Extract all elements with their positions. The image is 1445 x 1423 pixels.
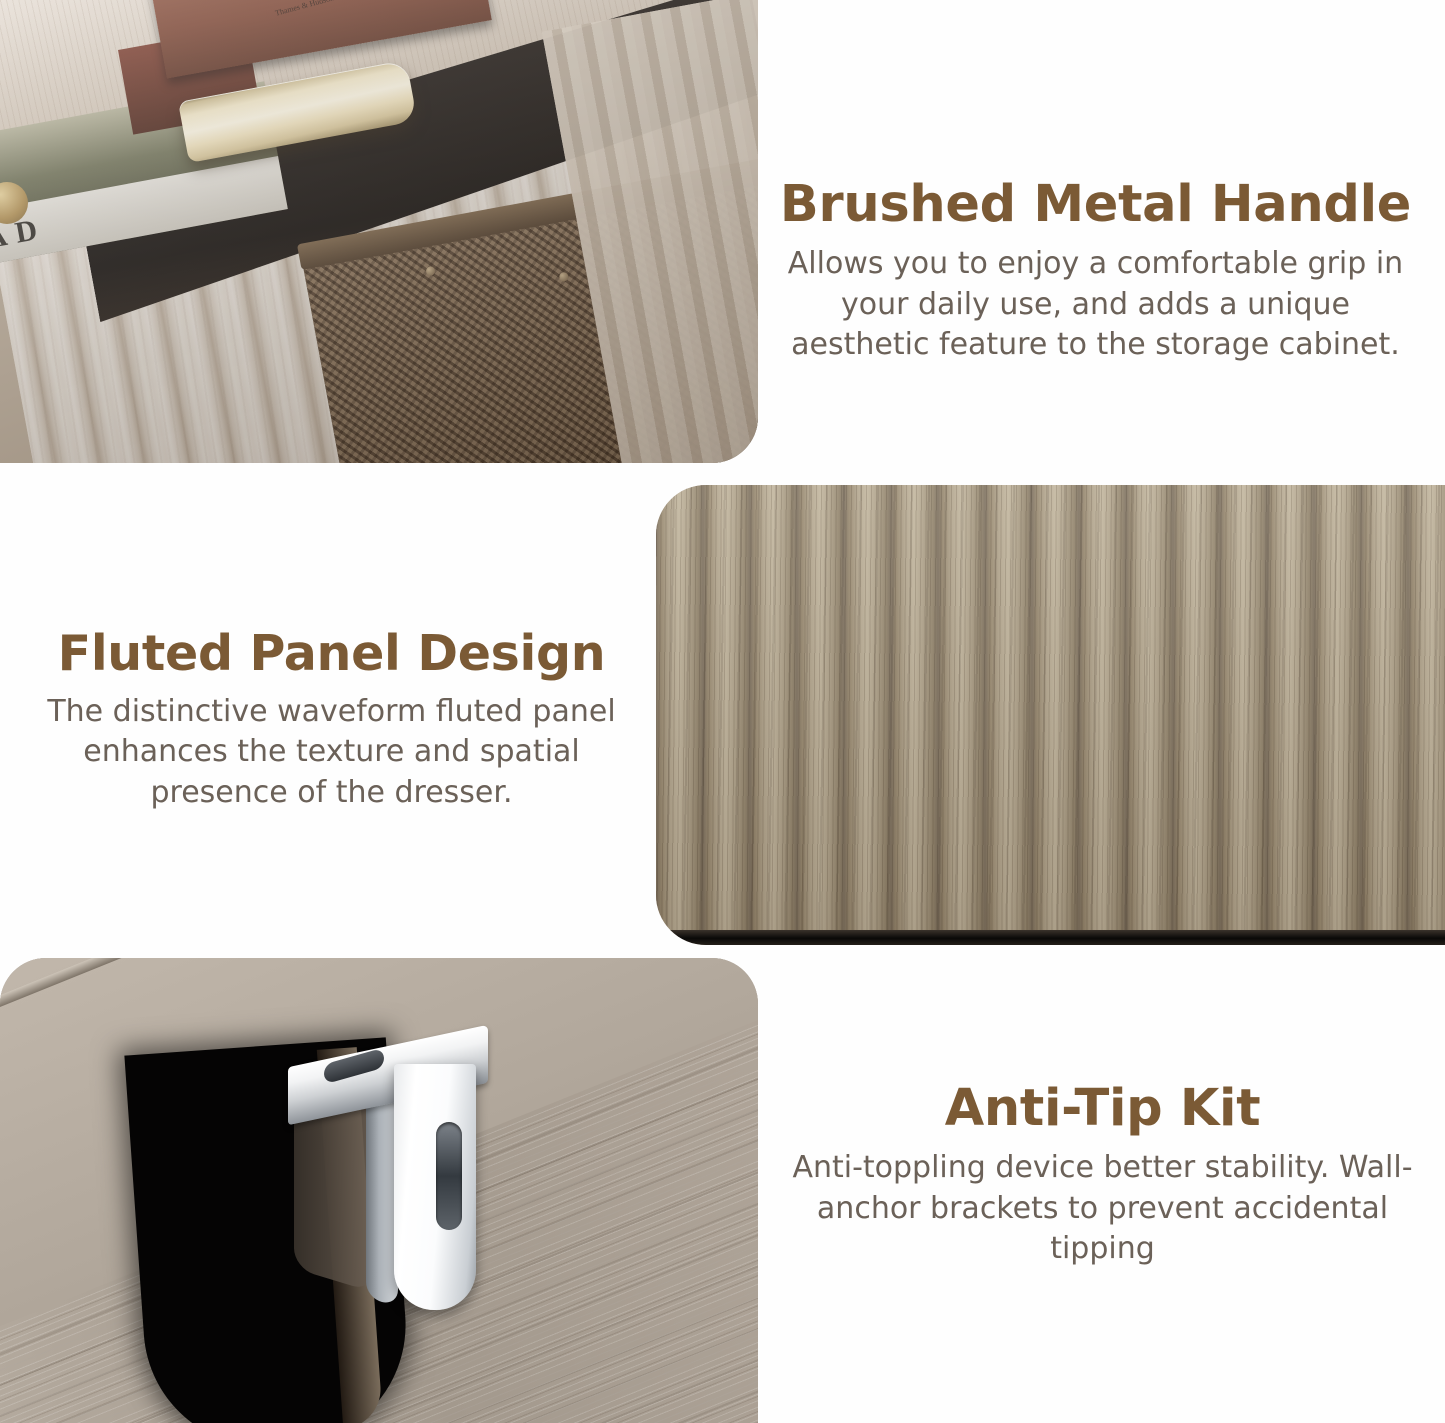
feature-title-brushed-metal-handle: Brushed Metal Handle bbox=[768, 178, 1423, 232]
feature-title-anti-tip-kit: Anti-Tip Kit bbox=[780, 1082, 1425, 1136]
feature-text-fluted-panel-design: Fluted Panel Design The distinctive wave… bbox=[18, 628, 645, 813]
feature-image-brushed-metal-handle: PAD The Art of Thames & Hudson bbox=[0, 0, 758, 463]
feature-description-fluted-panel-design: The distinctive waveform fluted panel en… bbox=[18, 692, 645, 814]
feature-text-brushed-metal-handle: Brushed Metal Handle Allows you to enjoy… bbox=[768, 178, 1423, 366]
feature-image-fluted-panel-design bbox=[656, 485, 1445, 945]
anti-tip-bracket bbox=[288, 1030, 508, 1330]
bracket-front-slot bbox=[436, 1122, 462, 1230]
feature-description-anti-tip-kit: Anti-toppling device better stability. W… bbox=[780, 1148, 1425, 1270]
photo-shading-overlay bbox=[656, 485, 1445, 931]
book-publisher-text: Thames & Hudson bbox=[274, 0, 335, 18]
feature-text-anti-tip-kit: Anti-Tip Kit Anti-toppling device better… bbox=[780, 1082, 1425, 1270]
bracket-front-flange bbox=[394, 1064, 476, 1310]
feature-description-brushed-metal-handle: Allows you to enjoy a comfortable grip i… bbox=[768, 244, 1423, 366]
feature-title-fluted-panel-design: Fluted Panel Design bbox=[18, 628, 645, 680]
panel-base-shadow bbox=[656, 930, 1445, 945]
